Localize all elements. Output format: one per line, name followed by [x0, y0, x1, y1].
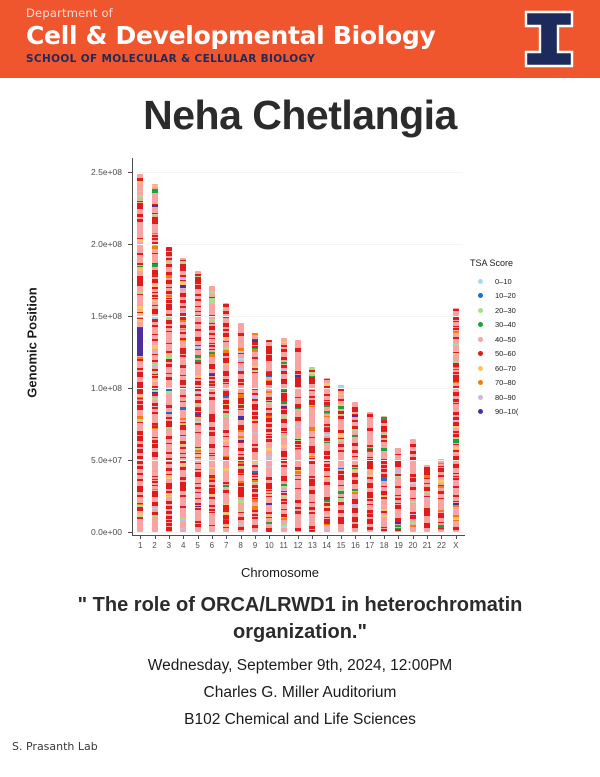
tsa-score-segment — [209, 344, 215, 345]
tsa-score-segment — [410, 528, 416, 530]
tsa-score-segment — [223, 453, 229, 456]
tsa-score-segment — [266, 377, 272, 379]
tsa-score-segment — [266, 357, 272, 359]
tsa-score-segment — [137, 461, 143, 464]
tsa-score-segment — [338, 389, 344, 391]
tsa-score-segment — [166, 299, 172, 300]
tsa-score-segment — [180, 498, 186, 500]
tsa-score-segment — [223, 350, 229, 353]
chromosome-column — [424, 465, 430, 532]
tsa-score-segment — [295, 364, 301, 367]
tsa-score-segment — [223, 433, 229, 436]
tsa-score-segment — [453, 438, 459, 440]
speaker-name: Neha Chetlangia — [0, 92, 600, 139]
tsa-score-segment — [438, 469, 444, 472]
tsa-score-segment — [367, 499, 373, 501]
chromosome-column — [438, 459, 444, 532]
tsa-score-segment — [295, 518, 301, 521]
tsa-score-segment — [352, 524, 358, 526]
tsa-score-segment — [180, 269, 186, 271]
tsa-score-segment — [166, 509, 172, 511]
tsa-score-segment — [266, 397, 272, 400]
legend-entry-label: 10–20 — [495, 291, 516, 300]
tsa-score-segment — [453, 404, 459, 405]
tsa-score-segment — [180, 415, 186, 416]
tsa-score-segment — [180, 514, 186, 517]
tsa-score-segment — [252, 525, 258, 528]
tsa-score-segment — [137, 310, 143, 312]
tsa-score-segment — [209, 291, 215, 294]
tsa-score-segment — [195, 469, 201, 470]
x-tick-mark — [370, 536, 371, 539]
tsa-score-segment — [252, 335, 258, 339]
tsa-score-segment — [281, 514, 287, 516]
tsa-score-segment — [281, 385, 287, 386]
tsa-score-segment — [252, 372, 258, 373]
tsa-score-segment — [195, 299, 201, 301]
tsa-score-segment — [338, 399, 344, 401]
tsa-score-segment — [453, 399, 459, 403]
tsa-score-segment — [352, 489, 358, 491]
tsa-score-segment — [137, 191, 143, 192]
tsa-score-segment — [209, 400, 215, 403]
x-tick-label: 4 — [176, 541, 190, 550]
tsa-score-segment — [180, 474, 186, 476]
tsa-score-segment — [152, 498, 158, 501]
tsa-score-segment — [252, 514, 258, 516]
tsa-score-segment — [137, 401, 143, 404]
chromosome-column — [324, 378, 330, 532]
tsa-score-segment — [166, 523, 172, 526]
tsa-score-segment — [152, 512, 158, 514]
tsa-score-segment — [152, 270, 158, 274]
tsa-score-segment — [309, 370, 315, 372]
tsa-score-segment — [166, 374, 172, 376]
tsa-score-segment — [309, 461, 315, 464]
x-tick-label: 20 — [406, 541, 420, 550]
tsa-score-segment — [152, 366, 158, 368]
legend-entry-list: 0–1010–2020–3030–4040–5050–6060–7070–808… — [470, 274, 600, 419]
tsa-score-segment — [137, 268, 143, 271]
tsa-score-segment — [137, 444, 143, 446]
tsa-score-segment — [209, 418, 215, 422]
tsa-score-segment — [309, 486, 315, 488]
x-tick-label: 15 — [334, 541, 348, 550]
tsa-score-segment — [266, 351, 272, 354]
tsa-score-segment — [252, 354, 258, 355]
tsa-score-segment — [166, 421, 172, 424]
tsa-score-segment — [209, 410, 215, 413]
banner-text-group: Department of Cell & Developmental Biolo… — [26, 6, 435, 66]
tsa-score-segment — [381, 465, 387, 468]
x-axis-label: Chromosome — [90, 565, 470, 580]
tsa-score-segment — [180, 436, 186, 437]
tsa-score-segment — [266, 429, 272, 432]
tsa-score-segment — [195, 482, 201, 483]
tsa-score-segment — [152, 185, 158, 186]
tsa-score-segment — [180, 332, 186, 333]
tsa-score-segment — [438, 488, 444, 490]
tsa-score-segment — [338, 486, 344, 487]
tsa-score-segment — [166, 409, 172, 412]
tsa-score-segment — [338, 502, 344, 505]
tsa-score-segment — [453, 361, 459, 364]
tsa-score-segment — [295, 361, 301, 362]
tsa-score-segment — [438, 475, 444, 478]
tsa-score-segment — [238, 371, 244, 373]
tsa-score-segment — [266, 424, 272, 427]
tsa-score-segment — [266, 503, 272, 505]
legend-entry: 30–40 — [470, 318, 600, 333]
tsa-score-segment — [453, 474, 459, 475]
tsa-score-segment — [281, 398, 287, 401]
tsa-score-segment — [209, 492, 215, 494]
tsa-score-segment — [166, 326, 172, 329]
tsa-score-segment — [166, 417, 172, 419]
tsa-score-segment — [209, 374, 215, 376]
legend-entry-label: 0–10 — [495, 277, 512, 286]
tsa-score-segment — [152, 300, 158, 302]
tsa-score-segment — [266, 383, 272, 384]
tsa-score-segment — [152, 452, 158, 455]
x-tick-label: 5 — [191, 541, 205, 550]
tsa-score-segment — [166, 307, 172, 310]
tsa-score-segment — [137, 505, 143, 507]
tsa-score-segment — [395, 506, 401, 507]
tsa-score-segment — [166, 249, 172, 251]
tsa-score-segment — [252, 417, 258, 418]
tsa-score-segment — [238, 420, 244, 423]
tsa-score-segment — [324, 419, 330, 420]
tsa-score-segment — [309, 479, 315, 480]
tsa-score-segment — [266, 402, 272, 404]
tsa-score-segment — [367, 445, 373, 447]
tsa-score-segment — [166, 253, 172, 254]
tsa-score-segment — [309, 476, 315, 477]
tsa-score-segment — [195, 318, 201, 319]
tsa-score-segment — [410, 482, 416, 485]
tsa-score-segment — [324, 494, 330, 496]
tsa-score-segment — [352, 504, 358, 508]
tsa-score-segment — [424, 528, 430, 529]
tsa-score-segment — [238, 442, 244, 444]
tsa-score-segment — [152, 360, 158, 363]
legend-entry: 0–10 — [470, 274, 600, 289]
tsa-score-segment — [238, 517, 244, 520]
tsa-score-segment — [309, 502, 315, 503]
tsa-score-segment — [180, 447, 186, 449]
tsa-score-segment — [309, 390, 315, 391]
tsa-score-segment — [180, 492, 186, 493]
tsa-score-segment — [209, 354, 215, 357]
tsa-score-segment — [209, 432, 215, 435]
tsa-score-segment — [209, 349, 215, 350]
tsa-score-segment — [367, 454, 373, 457]
tsa-score-segment — [252, 401, 258, 402]
tsa-score-segment — [381, 529, 387, 531]
tsa-score-segment — [252, 395, 258, 399]
tsa-score-segment — [209, 369, 215, 370]
tsa-score-segment — [309, 381, 315, 385]
tsa-score-segment — [438, 525, 444, 528]
tsa-score-segment — [295, 511, 301, 514]
tsa-score-segment — [180, 405, 186, 407]
tsa-score-segment — [453, 365, 459, 366]
tsa-score-segment — [453, 444, 459, 445]
tsa-score-segment — [180, 365, 186, 369]
x-tick-mark — [441, 536, 442, 539]
tsa-score-segment — [137, 362, 143, 364]
tsa-score-segment — [410, 462, 416, 465]
tsa-score-segment — [424, 493, 430, 496]
tsa-score-segment — [166, 295, 172, 297]
tsa-score-segment — [195, 346, 201, 349]
tsa-score-segment — [180, 401, 186, 402]
tsa-score-segment — [324, 477, 330, 478]
tsa-score-segment — [223, 497, 229, 499]
tsa-score-segment — [309, 436, 315, 437]
tsa-score-segment — [281, 503, 287, 504]
tsa-score-segment — [266, 393, 272, 396]
tsa-score-segment — [295, 471, 301, 474]
tsa-score-segment — [281, 411, 287, 413]
tsa-score-segment — [281, 510, 287, 513]
tsa-score-segment — [438, 480, 444, 483]
tsa-score-segment — [338, 471, 344, 474]
tsa-score-segment — [223, 396, 229, 398]
tsa-score-segment — [166, 495, 172, 497]
tsa-score-segment — [195, 294, 201, 296]
tsa-score-segment — [223, 510, 229, 513]
genomic-position-chart: Genomic Position Chromosome 0.0e+005.0e+… — [0, 150, 600, 585]
tsa-score-segment — [424, 508, 430, 512]
legend-entry-label: 80–90 — [495, 393, 516, 402]
tsa-score-segment — [438, 463, 444, 464]
tsa-score-segment — [295, 445, 301, 447]
tsa-score-segment — [309, 469, 315, 472]
tsa-score-segment — [410, 503, 416, 505]
tsa-score-segment — [338, 468, 344, 469]
tsa-score-segment — [324, 508, 330, 510]
tsa-score-segment — [137, 408, 143, 409]
tsa-score-segment — [381, 477, 387, 480]
tsa-score-segment — [252, 432, 258, 433]
legend-entry: 60–70 — [470, 361, 600, 376]
tsa-score-segment — [410, 519, 416, 523]
tsa-score-segment — [195, 512, 201, 513]
tsa-score-segment — [195, 473, 201, 476]
x-tick-mark — [198, 536, 199, 539]
tsa-score-segment — [238, 354, 244, 356]
tsa-score-segment — [195, 313, 201, 315]
y-tick-mark — [128, 172, 132, 173]
tsa-score-segment — [338, 433, 344, 436]
tsa-score-segment — [195, 423, 201, 425]
tsa-score-segment — [295, 409, 301, 411]
tsa-score-segment — [223, 446, 229, 448]
tsa-score-segment — [352, 433, 358, 435]
tsa-score-segment — [166, 441, 172, 442]
tsa-score-segment — [295, 468, 301, 470]
tsa-score-segment — [152, 205, 158, 207]
tsa-score-segment — [367, 470, 373, 471]
tsa-score-segment — [223, 490, 229, 493]
tsa-score-segment — [180, 380, 186, 383]
tsa-score-segment — [209, 416, 215, 419]
tsa-score-segment — [309, 450, 315, 453]
tsa-score-segment — [281, 429, 287, 431]
tsa-score-segment — [137, 419, 143, 422]
tsa-score-segment — [152, 189, 158, 192]
chromosome-column — [223, 303, 229, 532]
tsa-score-segment — [137, 428, 143, 431]
tsa-score-segment — [152, 325, 158, 327]
legend-color-dot — [478, 279, 483, 284]
tsa-score-segment — [137, 476, 143, 478]
tsa-score-segment — [152, 311, 158, 314]
tsa-score-segment — [180, 467, 186, 470]
tsa-score-segment — [410, 457, 416, 459]
tsa-score-segment — [438, 465, 444, 466]
tsa-score-segment — [137, 365, 143, 366]
tsa-score-segment — [209, 392, 215, 394]
tsa-score-segment — [180, 285, 186, 288]
tsa-score-segment — [180, 304, 186, 305]
tsa-score-segment — [352, 520, 358, 522]
tsa-score-segment — [152, 390, 158, 392]
tsa-score-segment — [281, 445, 287, 448]
tsa-score-segment — [152, 217, 158, 220]
tsa-score-segment — [166, 516, 172, 519]
legend-entry: 90–10( — [470, 405, 600, 420]
tsa-score-segment — [137, 433, 143, 435]
tsa-score-segment — [238, 324, 244, 326]
tsa-score-segment — [309, 437, 315, 438]
tsa-score-segment — [352, 470, 358, 472]
tsa-score-segment — [238, 491, 244, 494]
x-tick-mark — [212, 536, 213, 539]
tsa-score-segment — [223, 354, 229, 357]
tsa-score-segment — [152, 477, 158, 479]
tsa-score-segment — [438, 522, 444, 524]
tsa-score-segment — [238, 333, 244, 335]
tsa-score-segment — [137, 195, 143, 198]
tsa-score-segment — [281, 465, 287, 467]
tsa-score-segment — [166, 364, 172, 367]
tsa-score-segment — [367, 449, 373, 451]
tsa-score-segment — [352, 492, 358, 494]
y-tick-mark — [128, 532, 132, 533]
tsa-score-segment — [309, 494, 315, 497]
tsa-score-segment — [352, 473, 358, 477]
chromosome-column — [180, 258, 186, 532]
tsa-score-segment — [152, 412, 158, 414]
tsa-score-segment — [324, 402, 330, 405]
tsa-score-segment — [252, 420, 258, 422]
tsa-score-segment — [209, 377, 215, 379]
tsa-score-segment — [281, 423, 287, 425]
x-tick-mark — [255, 536, 256, 539]
tsa-score-segment — [338, 421, 344, 424]
tsa-score-segment — [195, 285, 201, 288]
tsa-score-segment — [209, 446, 215, 448]
tsa-score-segment — [137, 479, 143, 481]
tsa-score-segment — [137, 486, 143, 488]
tsa-score-segment — [195, 341, 201, 344]
tsa-score-segment — [152, 421, 158, 423]
tsa-score-segment — [137, 295, 143, 298]
tsa-score-segment — [166, 413, 172, 414]
tsa-score-segment — [238, 399, 244, 402]
tsa-score-segment — [453, 456, 459, 459]
legend-entry: 40–50 — [470, 332, 600, 347]
tsa-score-segment — [453, 322, 459, 325]
tsa-score-segment — [453, 391, 459, 392]
tsa-score-segment — [152, 319, 158, 322]
tsa-score-segment — [410, 487, 416, 488]
tsa-score-segment — [209, 288, 215, 290]
tsa-score-segment — [295, 529, 301, 531]
tsa-score-segment — [352, 441, 358, 444]
tsa-score-segment — [195, 495, 201, 498]
legend-entry-label: 40–50 — [495, 335, 516, 344]
tsa-score-segment — [223, 401, 229, 404]
tsa-score-segment — [453, 450, 459, 452]
tsa-score-segment — [152, 233, 158, 235]
tsa-score-segment — [209, 500, 215, 503]
tsa-score-segment — [166, 372, 172, 373]
tsa-score-segment — [166, 287, 172, 288]
tsa-score-segment — [180, 421, 186, 422]
tsa-score-segment — [252, 358, 258, 359]
tsa-score-segment — [152, 275, 158, 276]
tsa-score-segment — [223, 411, 229, 413]
tsa-score-segment — [223, 528, 229, 531]
tsa-score-segment — [137, 182, 143, 183]
tsa-score-segment — [381, 511, 387, 513]
tsa-score-segment — [238, 409, 244, 410]
chromosome-column — [152, 184, 158, 532]
tsa-score-segment — [281, 486, 287, 488]
tsa-score-segment — [152, 502, 158, 505]
tsa-score-segment — [238, 430, 244, 432]
tsa-score-segment — [152, 330, 158, 331]
x-tick-label: 12 — [291, 541, 305, 550]
legend-color-dot — [478, 380, 483, 385]
tsa-score-segment — [152, 264, 158, 267]
tsa-score-segment — [367, 527, 373, 530]
tsa-score-segment — [195, 306, 201, 307]
x-tick-mark — [413, 536, 414, 539]
tsa-score-segment — [309, 490, 315, 492]
tsa-score-segment — [166, 359, 172, 362]
tsa-score-segment — [195, 394, 201, 395]
chromosome-column — [381, 416, 387, 532]
tsa-score-segment — [367, 466, 373, 468]
tsa-score-segment — [266, 474, 272, 477]
department-banner: Department of Cell & Developmental Biolo… — [0, 0, 600, 78]
gridline — [133, 388, 463, 389]
tsa-score-segment — [410, 474, 416, 477]
tsa-score-segment — [410, 448, 416, 450]
tsa-score-segment — [166, 331, 172, 332]
tsa-score-segment — [252, 477, 258, 479]
tsa-score-segment — [166, 491, 172, 492]
tsa-score-segment — [209, 453, 215, 454]
tsa-score-segment — [281, 452, 287, 454]
y-axis-label: Genomic Position — [25, 248, 40, 438]
tsa-score-segment — [180, 276, 186, 277]
